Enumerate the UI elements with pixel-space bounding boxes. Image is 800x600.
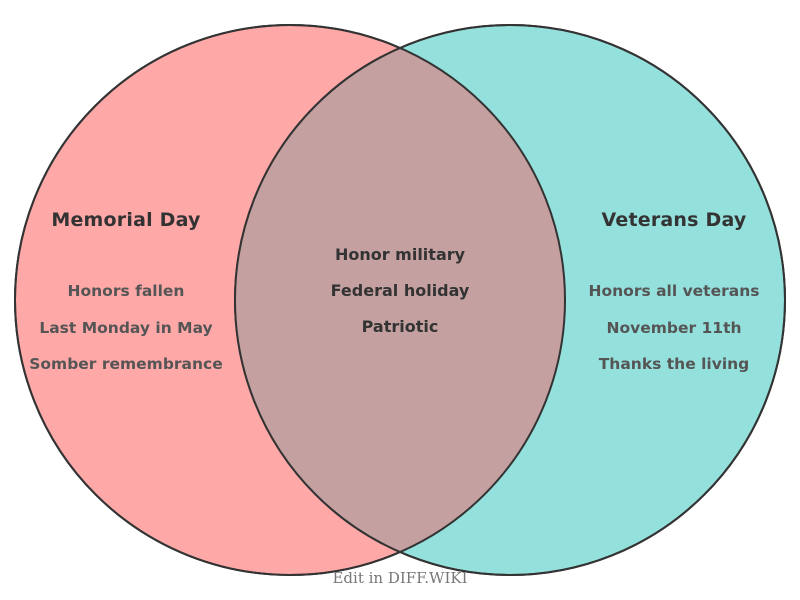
right-set-title: Veterans Day (548, 209, 800, 231)
list-item: Honor military (275, 247, 525, 263)
intersection-region-labels[interactable]: Honor military Federal holiday Patriotic (275, 247, 525, 355)
left-set-title: Memorial Day (0, 209, 252, 231)
venn-diagram: Memorial Day Honors fallen Last Monday i… (0, 0, 800, 600)
right-set-region[interactable]: Veterans Day Honors all veterans Novembe… (548, 209, 800, 394)
list-item: Federal holiday (275, 283, 525, 299)
list-item: Somber remembrance (0, 357, 252, 373)
right-set-item-list: Honors all veterans November 11th Thanks… (548, 284, 800, 373)
list-item: Thanks the living (548, 357, 800, 373)
left-set-region[interactable]: Memorial Day Honors fallen Last Monday i… (0, 209, 252, 394)
list-item: Honors fallen (0, 284, 252, 300)
left-set-item-list: Honors fallen Last Monday in May Somber … (0, 284, 252, 373)
list-item: Honors all veterans (548, 284, 800, 300)
intersection-item-list: Honor military Federal holiday Patriotic (275, 247, 525, 335)
list-item: November 11th (548, 321, 800, 337)
edit-link[interactable]: Edit in DIFF.WIKI (0, 569, 800, 587)
list-item: Last Monday in May (0, 321, 252, 337)
list-item: Patriotic (275, 319, 525, 335)
